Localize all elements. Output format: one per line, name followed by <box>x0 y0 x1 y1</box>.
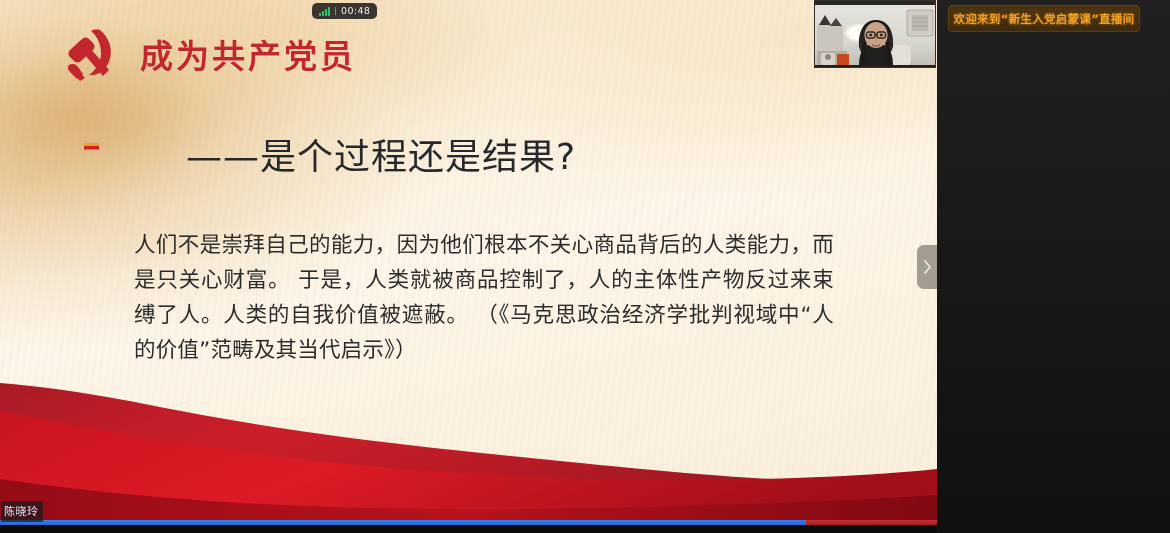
presentation-slide[interactable]: 成为共产党员 ——是个过程还是结果? 人们不是崇拜自己的能力，因为他们根本不关心… <box>0 0 937 533</box>
slide-bottom-edge <box>0 525 937 533</box>
slide-subtitle: ——是个过程还是结果? <box>186 128 576 180</box>
elapsed-time-label: 00:48 <box>341 6 370 17</box>
app-root: 成为共产党员 ——是个过程还是结果? 人们不是崇拜自己的能力，因为他们根本不关心… <box>0 0 1170 533</box>
timer-divider <box>335 7 336 15</box>
session-timer-badge: 00:48 <box>312 3 377 19</box>
presenter-name: 陈晓玲 <box>4 505 39 518</box>
slide-body-text: 人们不是崇拜自己的能力，因为他们根本不关心商品背后的人类能力，而是只关心财富。 … <box>134 228 834 368</box>
playback-progress-bar[interactable] <box>0 520 937 525</box>
welcome-banner: 欢迎来到“新生入党启蒙课”直播间 <box>948 5 1140 32</box>
playback-progress-fill <box>0 520 806 525</box>
side-gutter <box>937 0 1170 533</box>
panel-toggle-button[interactable] <box>917 245 937 289</box>
signal-bars-icon <box>319 7 330 16</box>
welcome-banner-text: 欢迎来到“新生入党启蒙课”直播间 <box>954 11 1135 27</box>
slide-header: 成为共产党员 <box>60 26 356 82</box>
presenter-webcam-pip[interactable] <box>814 0 936 68</box>
presenter-name-chip: 陈晓玲 <box>1 501 43 522</box>
slide-ribbon-decoration <box>0 383 937 533</box>
chevron-right-icon <box>923 259 932 275</box>
hammer-and-sickle-icon <box>60 26 122 82</box>
dove-flag-motif-icon <box>74 132 114 160</box>
slide-title: 成为共产党员 <box>140 30 356 78</box>
